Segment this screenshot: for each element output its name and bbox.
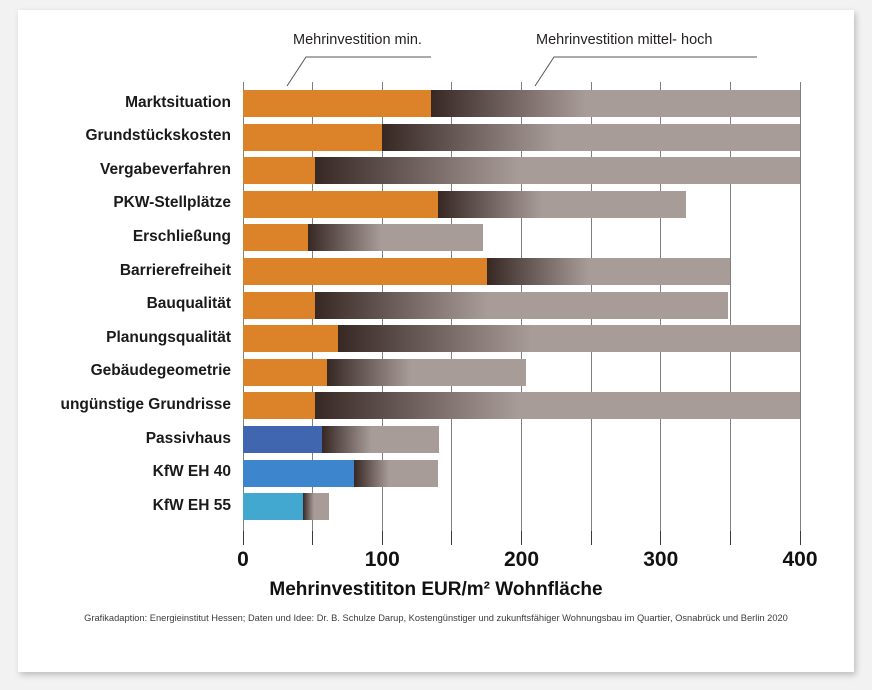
- bar-segment-mittel-hoch: [382, 124, 800, 151]
- bar-segment-min: [243, 157, 315, 184]
- axis-tick-label: 300: [621, 548, 701, 572]
- bar-row: [243, 426, 439, 453]
- axis-tick-150: [451, 531, 452, 545]
- axis-tick-label: 100: [342, 548, 422, 572]
- bar-segment-mittel-hoch: [338, 325, 800, 352]
- category-label: Grundstückskosten: [18, 127, 231, 145]
- axis-tick-50: [312, 531, 313, 545]
- axis-tick-0: [243, 531, 244, 545]
- category-label: PKW-Stellplätze: [18, 194, 231, 212]
- bar-row: [243, 124, 800, 151]
- category-label: Marktsituation: [18, 94, 231, 112]
- axis-tick-label: 400: [760, 548, 840, 572]
- bar-row: [243, 258, 730, 285]
- bar-segment-mittel-hoch: [354, 460, 438, 487]
- bar-segment-mittel-hoch: [322, 426, 439, 453]
- bar-row: [243, 292, 728, 319]
- bar-segment-min: [243, 224, 308, 251]
- bar-segment-mittel-hoch: [315, 392, 800, 419]
- bar-row: [243, 90, 800, 117]
- axis-tick-400: [800, 531, 801, 545]
- axis-tick-100: [382, 531, 383, 545]
- category-label: Erschließung: [18, 228, 231, 246]
- bar-segment-min: [243, 292, 315, 319]
- bar-chart: MarktsituationGrundstückskostenVergabeve…: [18, 10, 854, 672]
- axis-tick-label: 0: [203, 548, 283, 572]
- category-label: KfW EH 40: [18, 463, 231, 481]
- bar-row: [243, 359, 526, 386]
- bar-segment-mittel-hoch: [327, 359, 526, 386]
- bar-segment-min: [243, 325, 338, 352]
- axis-tick-350: [730, 531, 731, 545]
- category-label: Barrierefreiheit: [18, 262, 231, 280]
- category-label: Vergabeverfahren: [18, 161, 231, 179]
- bar-segment-min: [243, 124, 382, 151]
- axis-tick-250: [591, 531, 592, 545]
- axis-tick-300: [660, 531, 661, 545]
- bar-segment-min: [243, 191, 438, 218]
- bar-segment-mittel-hoch: [431, 90, 800, 117]
- bar-segment-min: [243, 392, 315, 419]
- callout-label-mittel-hoch: Mehrinvestition mittel- hoch: [536, 32, 713, 48]
- bar-segment-mittel-hoch: [438, 191, 686, 218]
- category-label: ungünstige Grundrisse: [18, 396, 231, 414]
- bar-row: [243, 460, 438, 487]
- callout-label-min: Mehrinvestition min.: [293, 32, 422, 48]
- source-note: Grafikadaption: Energieinstitut Hessen; …: [18, 613, 854, 623]
- axis-tick-200: [521, 531, 522, 545]
- axis-tick-label: 200: [482, 548, 562, 572]
- bar-row: [243, 157, 800, 184]
- bar-row: [243, 392, 800, 419]
- bar-segment-mittel-hoch: [315, 157, 800, 184]
- category-label: Planungsqualität: [18, 329, 231, 347]
- bar-segment-min: [243, 359, 327, 386]
- bar-row: [243, 325, 800, 352]
- bar-segment-min: [243, 258, 487, 285]
- bar-segment-min: [243, 426, 322, 453]
- bar-segment-mittel-hoch: [487, 258, 731, 285]
- category-label: Passivhaus: [18, 430, 231, 448]
- category-label: Bauqualität: [18, 295, 231, 313]
- category-label: Gebäudegeometrie: [18, 362, 231, 380]
- bar-segment-min: [243, 493, 303, 520]
- bar-row: [243, 191, 686, 218]
- bar-segment-mittel-hoch: [303, 493, 329, 520]
- x-axis-title: Mehrinvestititon EUR/m² Wohnfläche: [18, 579, 854, 601]
- bar-row: [243, 224, 483, 251]
- bar-segment-mittel-hoch: [308, 224, 482, 251]
- bar-segment-min: [243, 460, 354, 487]
- bar-row: [243, 493, 329, 520]
- category-label: KfW EH 55: [18, 497, 231, 515]
- chart-card: MarktsituationGrundstückskostenVergabeve…: [18, 10, 854, 672]
- bar-segment-min: [243, 90, 431, 117]
- bar-segment-mittel-hoch: [315, 292, 727, 319]
